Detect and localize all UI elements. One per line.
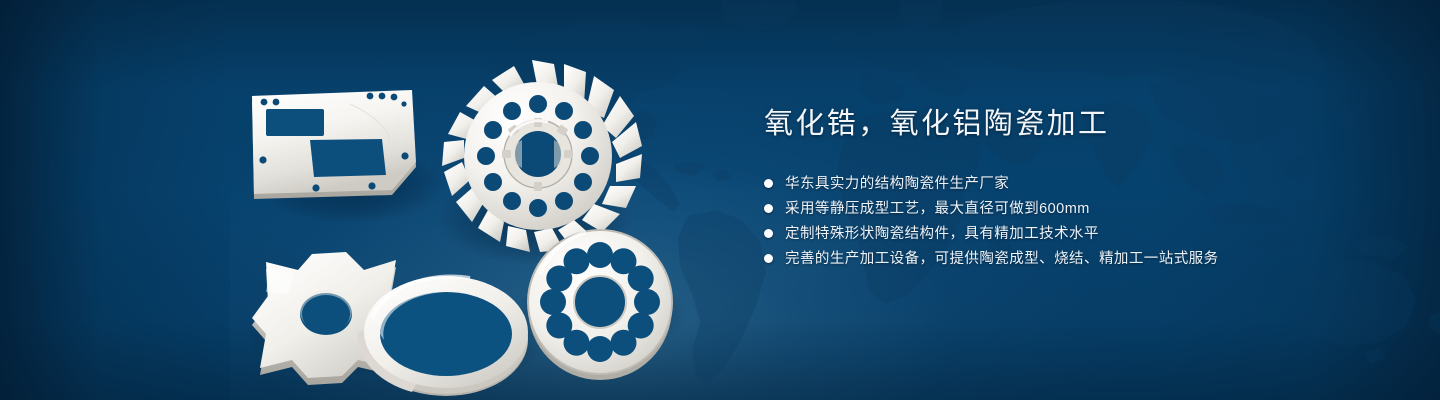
bullet-dot-icon xyxy=(764,204,773,213)
banner-copy: 氧化锆，氧化铝陶瓷加工 华东具实力的结构陶瓷件生产厂家 采用等静压成型工艺，最大… xyxy=(764,106,1384,271)
feature-list-item: 华东具实力的结构陶瓷件生产厂家 xyxy=(764,171,1384,196)
ceramic-products-image xyxy=(230,44,730,384)
bullet-dot-icon xyxy=(764,229,773,238)
feature-list-item: 采用等静压成型工艺，最大直径可做到600mm xyxy=(764,196,1384,221)
feature-text: 完善的生产加工设备，可提供陶瓷成型、烧结、精加工一站式服务 xyxy=(785,252,1219,267)
ceramic-perforated-disc-shape xyxy=(528,230,672,380)
feature-list-item: 完善的生产加工设备，可提供陶瓷成型、烧结、精加工一站式服务 xyxy=(764,246,1384,271)
bullet-dot-icon xyxy=(764,254,773,263)
hero-banner: 氧化锆，氧化铝陶瓷加工 华东具实力的结构陶瓷件生产厂家 采用等静压成型工艺，最大… xyxy=(0,0,1440,400)
feature-text: 华东具实力的结构陶瓷件生产厂家 xyxy=(785,177,1009,192)
feature-list-item: 定制特殊形状陶瓷结构件，具有精加工技术水平 xyxy=(764,221,1384,246)
ceramic-mounting-plate-shape xyxy=(252,90,416,199)
feature-text: 定制特殊形状陶瓷结构件，具有精加工技术水平 xyxy=(785,227,1099,242)
bullet-dot-icon xyxy=(764,179,773,188)
feature-list: 华东具实力的结构陶瓷件生产厂家 采用等静压成型工艺，最大直径可做到600mm 定… xyxy=(764,171,1384,271)
banner-headline: 氧化锆，氧化铝陶瓷加工 xyxy=(764,106,1384,142)
feature-text: 采用等静压成型工艺，最大直径可做到600mm xyxy=(785,202,1090,217)
